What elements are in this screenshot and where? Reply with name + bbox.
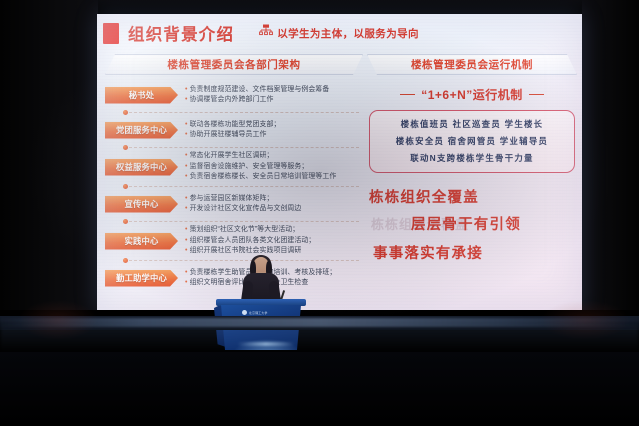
mechanism-box: 楼栋值班员 社区巡查员 学生楼长 楼栋安全员 宿舍网管员 学业辅导员 联动N支跨… [369,110,575,173]
podium-institution-name: 北京理工大学 [249,311,268,315]
auditorium-scene: 组织背景介绍 以学生为主体，以服务为导向 [0,0,639,426]
department-bullets: 参与运营园区新媒体矩阵； 开发设计社区文化宣传品与文创周边 [185,194,363,215]
department-name: 实践中心 [125,235,159,247]
department-tag: 秘书处 [105,87,178,104]
department-bullets: 负责制度规范建设、文件档案管理与例会筹备 协调楼管会内外跨部门工作 [185,85,363,106]
bullet: 参与运营园区新媒体矩阵； [185,194,363,205]
left-panel: 楼栋管理委员会各部门架构 秘书处 负责制度规范建设、文件档案管理与例会筹备 协调… [105,54,363,293]
bullet: 协调楼管会内外跨部门工作 [185,95,363,106]
department-name: 党团服务中心 [116,124,167,136]
department-tag: 宣传中心 [105,196,178,213]
slide-header: 组织背景介绍 以学生为主体，以服务为导向 [103,21,419,45]
connector-line [129,186,359,187]
slogan: 事事落实有承接 [373,242,483,263]
department-row: 实践中心 策划组织“社区文化节”等大型活动； 组织楼管会人员团队各类文化团建活动… [105,224,363,258]
slogan-group: 栋栋组织全覆盖 栋栋组织全覆盖 层层骨干有引领 事事落实有承接 [367,186,577,266]
bullet: 监督宿舍设施维护、安全管理等服务； [185,162,363,173]
connector-line [129,221,359,222]
stage-apron [0,352,639,426]
department-bullets: 策划组织“社区文化节”等大型活动； 组织楼管会人员团队各类文化团建活动； 组织开… [185,225,363,257]
department-name: 权益服务中心 [116,161,167,173]
left-panel-banner: 楼栋管理委员会各部门架构 [105,54,363,75]
right-panel-banner: 楼栋管理委员会运行机制 [367,54,577,75]
stage-light-left [18,300,98,340]
rule-right [529,94,544,96]
stage-light-right [540,300,630,340]
slogan: 层层骨干有引领 [411,213,521,234]
bullet: 负责宿舍楼栋楼长、安全员日常培训管理等工作 [185,172,363,183]
bullet: 负责制度规范建设、文件档案管理与例会筹备 [185,85,363,96]
connector-line [129,112,359,113]
slide-body: 楼栋管理委员会各部门架构 秘书处 负责制度规范建设、文件档案管理与例会筹备 协调… [97,54,582,311]
org-chart-icon [259,24,273,42]
slide-subtitle-group: 以学生为主体，以服务为导向 [259,24,419,42]
right-wall [582,0,639,318]
rule-left [400,94,415,96]
department-name: 宣传中心 [125,198,159,210]
slide-title: 组织背景介绍 [128,21,234,45]
mechanism-role-line: 联动N支跨楼栋学生骨干力量 [410,152,533,164]
department-tag: 勤工助学中心 [105,270,178,287]
bullet: 组织开展社区书院社会实践项目调研 [185,246,363,257]
department-tag: 权益服务中心 [105,159,178,176]
department-name: 秘书处 [129,89,155,101]
department-row: 宣传中心 参与运营园区新媒体矩阵； 开发设计社区文化宣传品与文创周边 [105,189,363,219]
slide-subtitle: 以学生为主体，以服务为导向 [277,26,419,41]
bullet: 联动各楼栋功能型党团支部； [185,120,363,131]
mechanism-role-line: 楼栋安全员 宿舍网管员 学业辅导员 [396,135,548,147]
department-bullets: 联动各楼栋功能型党团支部； 协助开展驻楼辅导员工作 [185,120,363,141]
slogan: 栋栋组织全覆盖 [369,186,479,207]
department-row: 党团服务中心 联动各楼栋功能型党团支部； 协助开展驻楼辅导员工作 [105,115,363,145]
bullet: 开发设计社区文化宣传品与文创周边 [185,204,363,215]
department-row: 权益服务中心 常态化开展学生社区调研； 监督宿舍设施维护、安全管理等服务； 负责… [105,150,363,184]
department-tag: 党团服务中心 [105,122,178,139]
right-banner-label: 楼栋管理委员会运行机制 [411,57,533,72]
university-emblem-icon [242,310,247,315]
department-name: 勤工助学中心 [116,272,167,284]
department-tag: 实践中心 [105,233,178,250]
projection-screen: 组织背景介绍 以学生为主体，以服务为导向 [97,14,582,311]
department-list: 秘书处 负责制度规范建设、文件档案管理与例会筹备 协调楼管会内外跨部门工作 党团… [105,80,363,293]
right-panel: 楼栋管理委员会运行机制 “1+6+N”运行机制 楼栋值班员 社区巡查员 学生楼长… [367,54,577,266]
department-row: 勤工助学中心 负责楼栋学生助管员团队的培训、考核及排班； 组织文明宿舍评比与社区… [105,263,363,293]
mechanism-role-line: 楼栋值班员 社区巡查员 学生楼长 [401,118,544,130]
department-row: 秘书处 负责制度规范建设、文件档案管理与例会筹备 协调楼管会内外跨部门工作 [105,80,363,110]
bullet: 常态化开展学生社区调研； [185,151,363,162]
left-wall [0,0,98,318]
bullet: 组织楼管会人员团队各类文化团建活动； [185,236,363,247]
podium-top [216,299,306,306]
bullet: 协助开展驻楼辅导员工作 [185,130,363,141]
connector-line [129,147,359,148]
podium-logo: 北京理工大学 [242,310,268,315]
header-accent-bar [103,23,119,44]
mechanism-title: “1+6+N”运行机制 [421,86,523,103]
department-bullets: 常态化开展学生社区调研； 监督宿舍设施维护、安全管理等服务； 负责宿舍楼栋楼长、… [185,151,363,183]
left-banner-label: 楼栋管理委员会各部门架构 [167,57,300,72]
bullet: 策划组织“社区文化节”等大型活动； [185,225,363,236]
mechanism-title-group: “1+6+N”运行机制 [367,86,577,103]
